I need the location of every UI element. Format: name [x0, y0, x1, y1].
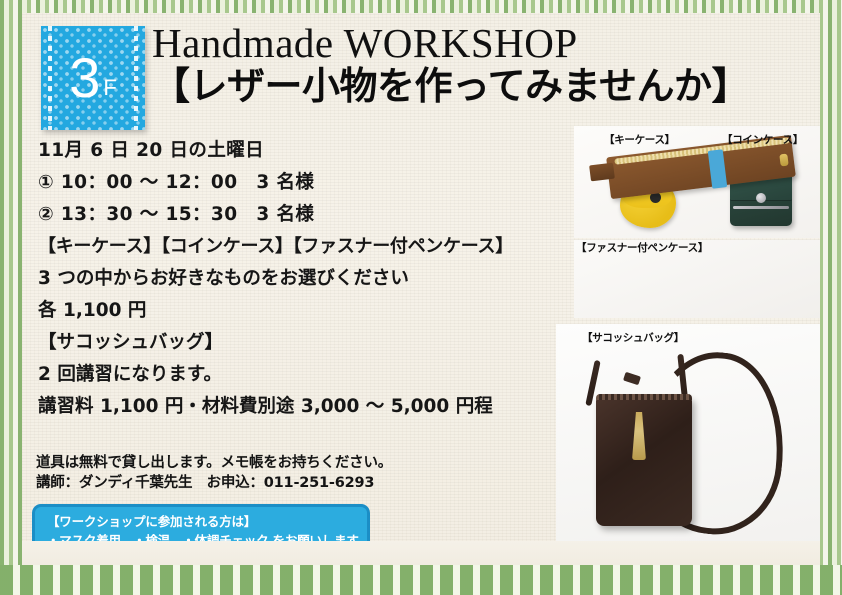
body-line-session-1: ① 10：00 ～ 12：00 3 名様 — [38, 174, 558, 193]
body-line-sacoche-title: 【サコッシュバッグ】 — [38, 334, 558, 353]
label-key-case: 【キーケース】 — [604, 132, 675, 147]
floor-unit: F — [103, 75, 116, 100]
body-line-fee: 講習料 1,100 円・材料費別途 3,000 ～ 5,000 円程 — [38, 398, 558, 417]
sacoche-bag-photo — [584, 350, 804, 546]
bag-strap-buckle — [623, 372, 641, 386]
body-line-two-sessions: 2 回講習になります。 — [38, 366, 558, 385]
label-pen-case: 【ファスナー付ペンケース】 — [576, 240, 708, 255]
poster-header: 3F Handmade WORKSHOP 【レザー小物を作ってみませんか】 — [22, 13, 820, 125]
pen-case-zipper-pull — [779, 154, 788, 167]
body-line-item-choices: 【キーケース】【コインケース】【ファスナー付ペンケース】 — [38, 238, 558, 256]
title-block: Handmade WORKSHOP 【レザー小物を作ってみませんか】 — [152, 21, 749, 109]
label-coin-case: 【コインケース】 — [722, 132, 803, 147]
floor-badge-text: 3F — [69, 50, 117, 106]
body-line-date: 11月 6 日 20 日の土曜日 — [38, 142, 558, 161]
body-text-block: 11月 6 日 20 日の土曜日 ① 10：00 ～ 12：00 3 名様 ② … — [38, 142, 558, 430]
title-japanese: 【レザー小物を作ってみませんか】 — [152, 65, 749, 109]
bag-top-stitching — [596, 394, 692, 400]
poster-canvas: 3F Handmade WORKSHOP 【レザー小物を作ってみませんか】 11… — [0, 0, 842, 595]
small-line-instructor-contact: 講師：ダンディ千葉先生 お申込：011-251-6293 — [36, 474, 506, 494]
pen-case-photo — [584, 138, 798, 200]
notice-heading: 【ワークショップに参加される方は】 — [47, 512, 357, 531]
title-english: Handmade WORKSHOP — [152, 21, 749, 67]
body-line-choose-one: 3 つの中からお好きなものをお選びください — [38, 270, 558, 289]
product-photo-panel: 【キーケース】 【コインケース】 【ファスナー付ペンケース】 【サコッシュバッグ… — [562, 126, 820, 558]
small-text-block: 道具は無料で貸し出します。メモ帳をお持ちください。 講師：ダンディ千葉先生 お申… — [36, 454, 506, 493]
coin-case-edge — [733, 206, 789, 209]
body-line-price-each: 各 1,100 円 — [38, 302, 558, 321]
floor-badge: 3F — [41, 26, 145, 130]
body-line-session-2: ② 13：30 ～ 15：30 3 名様 — [38, 206, 558, 225]
small-line-tools: 道具は無料で貸し出します。メモ帳をお持ちください。 — [36, 454, 506, 474]
bottom-border-pattern — [0, 565, 842, 595]
pen-case-tab — [589, 163, 615, 182]
bag-body — [596, 396, 692, 526]
floor-number: 3 — [69, 46, 100, 109]
label-sacoche-bag: 【サコッシュバッグ】 — [582, 330, 684, 345]
